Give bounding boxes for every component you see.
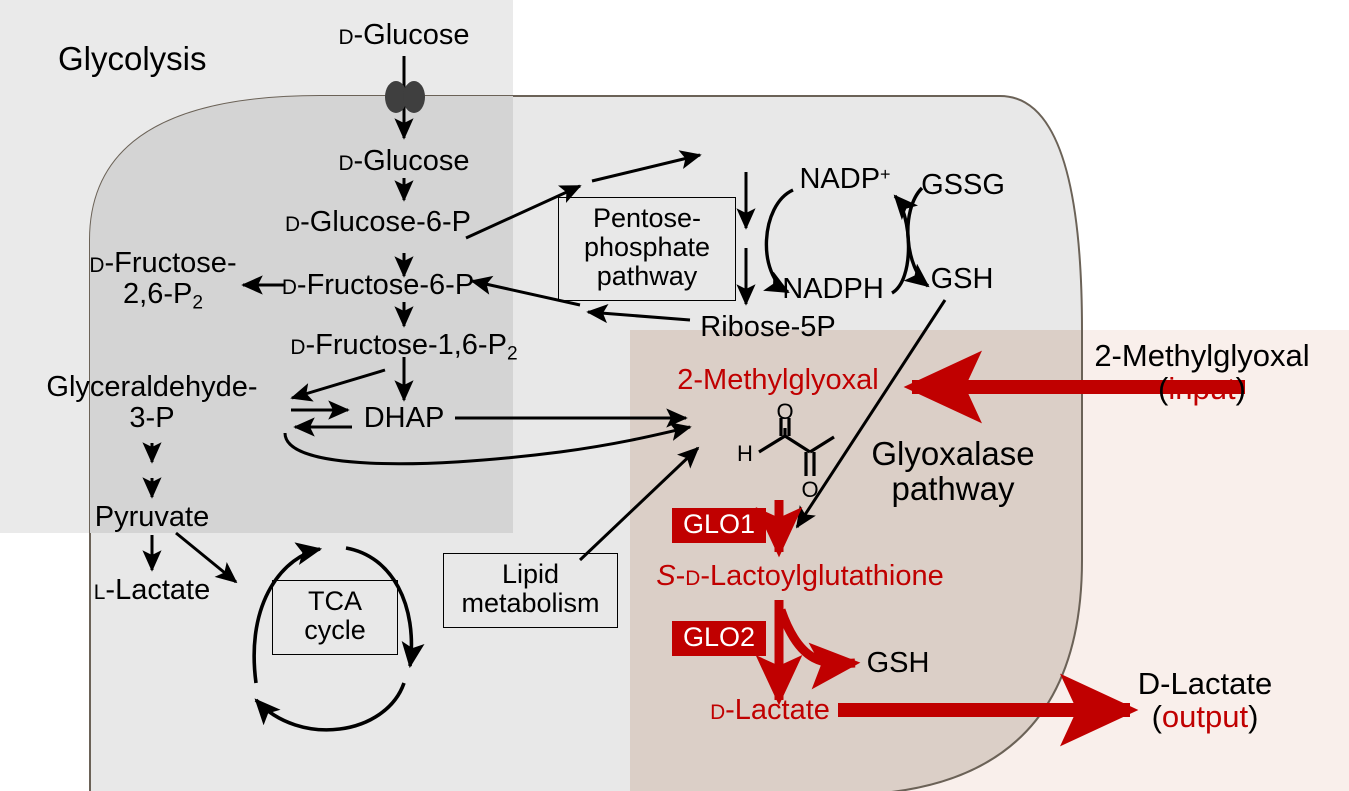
- label-gssg: GSSG: [921, 170, 1005, 201]
- arrow-dhap-curve-to-mgo: [285, 427, 690, 464]
- label-l-lactate: L-Lactate: [94, 575, 210, 606]
- label-pyruvate: Pyruvate: [95, 502, 209, 533]
- label-fructose-2-6-bisphosphate: D-Fructose- 2,6-P2: [89, 248, 236, 313]
- arrow-gssg-to-gsh: [908, 188, 928, 286]
- arrow-nadph-to-nadp: [892, 196, 909, 293]
- label-glucose-6-phosphate: D-Glucose-6-P: [285, 207, 471, 238]
- box-lipid-metabolism[interactable]: Lipid metabolism: [443, 553, 618, 628]
- arrow-f16p2-to-gap: [292, 370, 385, 398]
- label-glucose-extracellular: D-Glucose: [338, 20, 469, 51]
- badge-glo1[interactable]: GLO1: [672, 508, 766, 543]
- arrow-ppp-up-b: [592, 155, 700, 181]
- label-glyoxalase-pathway-region: Glyoxalase pathway: [871, 437, 1034, 507]
- label-dhap: DHAP: [364, 403, 445, 434]
- label-glucose-intracellular: D-Glucose: [338, 146, 469, 177]
- structure-atom-o-top: O: [776, 400, 793, 423]
- label-gsh-glutathione-bottom: GSH: [867, 648, 930, 679]
- label-nadp-plus: NADP+: [799, 164, 890, 195]
- label-s-d-lactoylglutathione: S-D-Lactoylglutathione: [656, 561, 944, 592]
- label-input-methylglyoxal: 2-Methylglyoxal (input): [1094, 340, 1309, 406]
- arrow-lipid-to-mgo: [580, 448, 698, 560]
- mgo-structure: [759, 418, 834, 476]
- label-2-methylglyoxal: 2-Methylglyoxal: [677, 365, 878, 396]
- label-glycolysis-region: Glycolysis: [58, 42, 207, 77]
- pathway-diagram: D-Glucose Glycolysis D-Glucose D-Glucose…: [0, 0, 1349, 791]
- badge-glo2[interactable]: GLO2: [672, 621, 766, 656]
- label-fructose-6-phosphate: D-Fructose-6-P: [282, 270, 474, 301]
- label-d-lactate: D-Lactate: [710, 695, 830, 726]
- arrow-glo2-releases-gsh: [781, 610, 855, 664]
- structure-atom-h: H: [737, 442, 753, 465]
- label-gsh-glutathione-top: GSH: [931, 264, 994, 295]
- box-pentose-phosphate-pathway[interactable]: Pentose- phosphate pathway: [558, 197, 736, 301]
- label-glyceraldehyde-3-phosphate: Glyceraldehyde- 3-P: [46, 372, 257, 433]
- label-fructose-1-6-bisphosphate: D-Fructose-1,6-P2: [290, 330, 517, 365]
- label-nadph: NADPH: [782, 274, 884, 305]
- arrow-r5p-to-f6p-a: [588, 312, 690, 320]
- label-ribose-5-phosphate: Ribose-5P: [700, 312, 835, 343]
- box-tca-cycle[interactable]: TCA cycle: [272, 580, 398, 655]
- label-output-d-lactate: D-Lactate (output): [1138, 668, 1272, 734]
- arrow-tca-bottom: [256, 683, 404, 730]
- structure-atom-o-bottom: O: [801, 478, 818, 501]
